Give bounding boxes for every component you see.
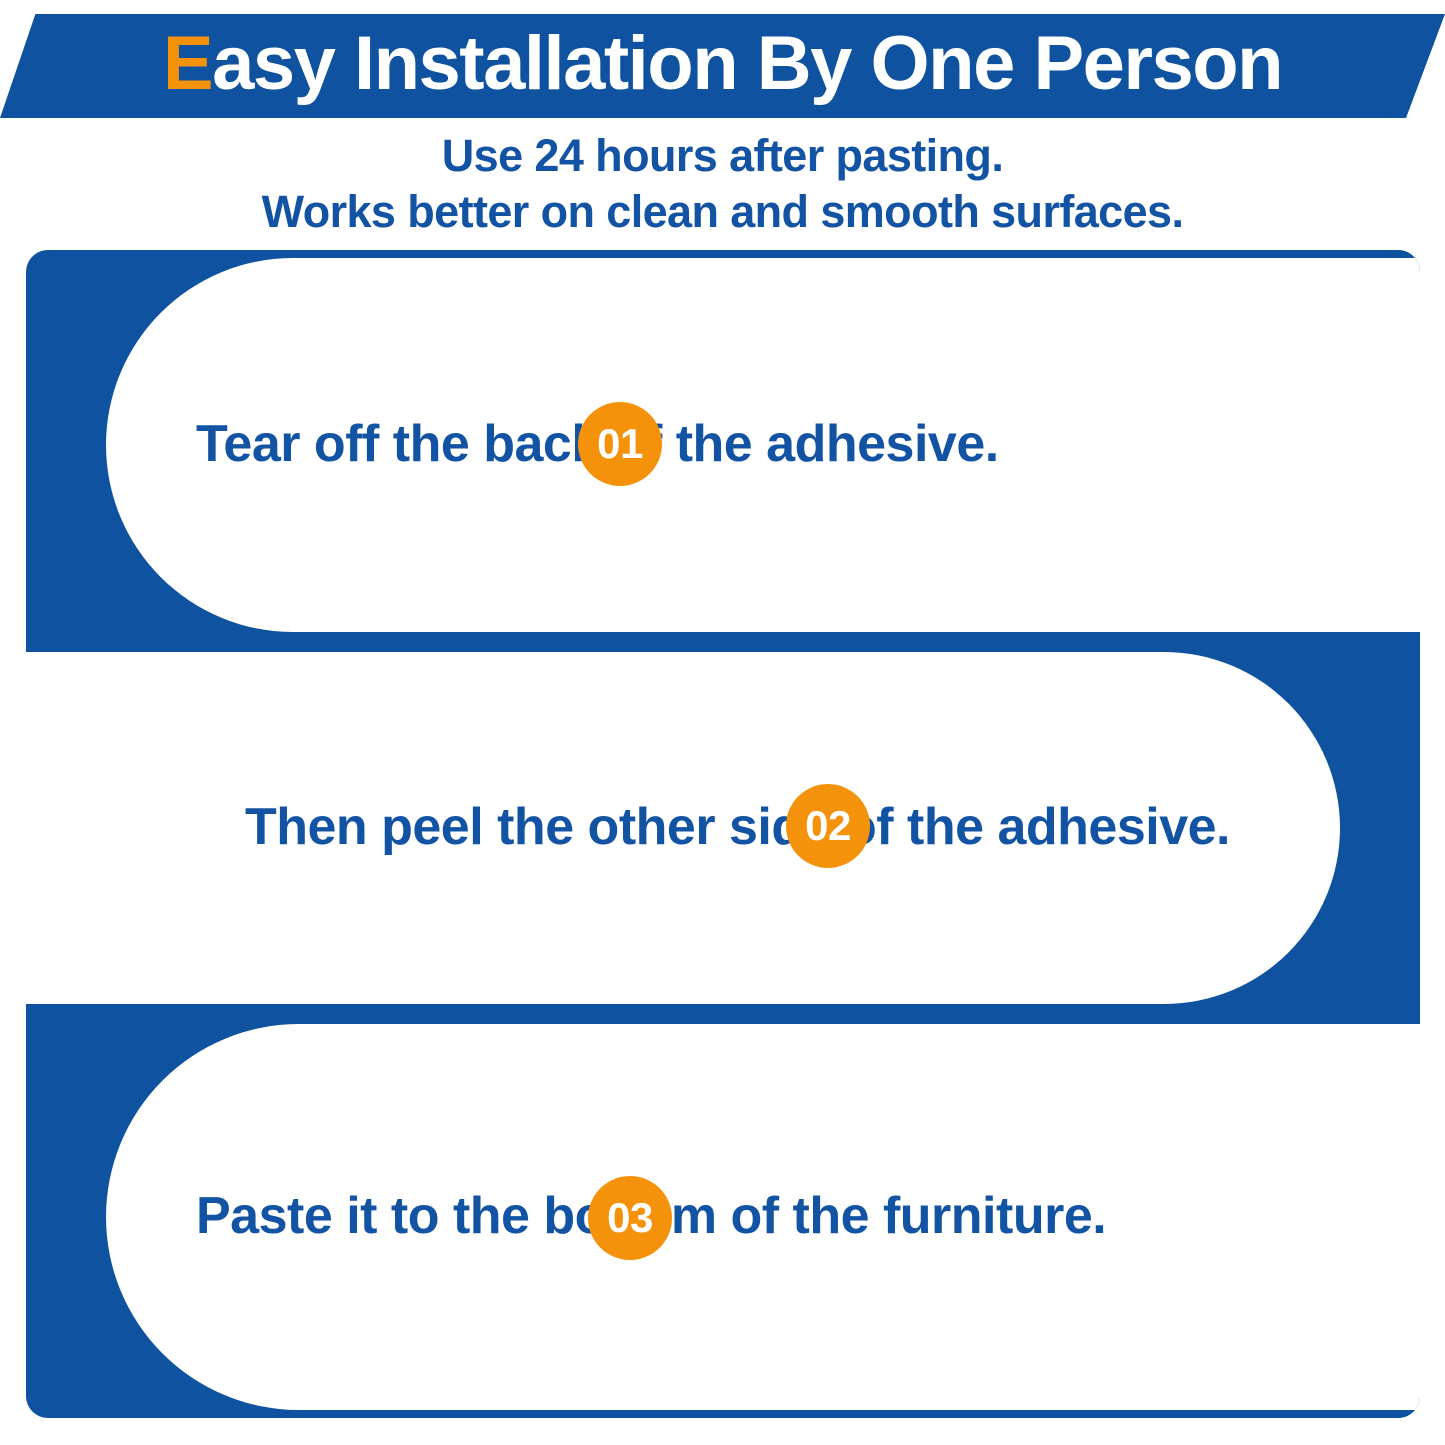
step-03-inner: Paste it to the bottom of the furniture.…: [26, 1016, 1420, 1418]
title-accent-letter: E: [163, 26, 212, 102]
page-title: Easy Installation By One Person: [0, 14, 1445, 118]
header-banner: Easy Installation By One Person: [0, 14, 1445, 118]
step-02-text-pill: Then peel the other side of the adhesive…: [26, 652, 1340, 1004]
step-03-text-pill: Paste it to the bottom of the furniture.: [106, 1024, 1420, 1410]
step-badge-01: 01: [578, 402, 662, 486]
step-card-01: Tear off the back of the adhesive. 01: [26, 250, 1420, 640]
step-card-02: Then peel the other side of the adhesive…: [26, 644, 1420, 1012]
steps-panel: Tear off the back of the adhesive. 01: [26, 250, 1420, 1418]
title-remainder: asy Installation By One Person: [212, 26, 1282, 102]
step-badge-03: 03: [588, 1176, 672, 1260]
subtitle-line-1: Use 24 hours after pasting.: [0, 128, 1445, 184]
step-01-inner: Tear off the back of the adhesive. 01: [26, 250, 1420, 640]
subtitle-block: Use 24 hours after pasting. Works better…: [0, 128, 1445, 241]
step-card-03: Paste it to the bottom of the furniture.…: [26, 1016, 1420, 1418]
step-badge-02: 02: [786, 784, 870, 868]
infographic-page: Easy Installation By One Person Use 24 h…: [0, 0, 1445, 1445]
subtitle-line-2: Works better on clean and smooth surface…: [0, 184, 1445, 240]
step-02-instruction: Then peel the other side of the adhesive…: [245, 798, 1230, 857]
step-01-text-pill: Tear off the back of the adhesive.: [106, 258, 1420, 632]
step-02-inner: Then peel the other side of the adhesive…: [26, 644, 1420, 1012]
